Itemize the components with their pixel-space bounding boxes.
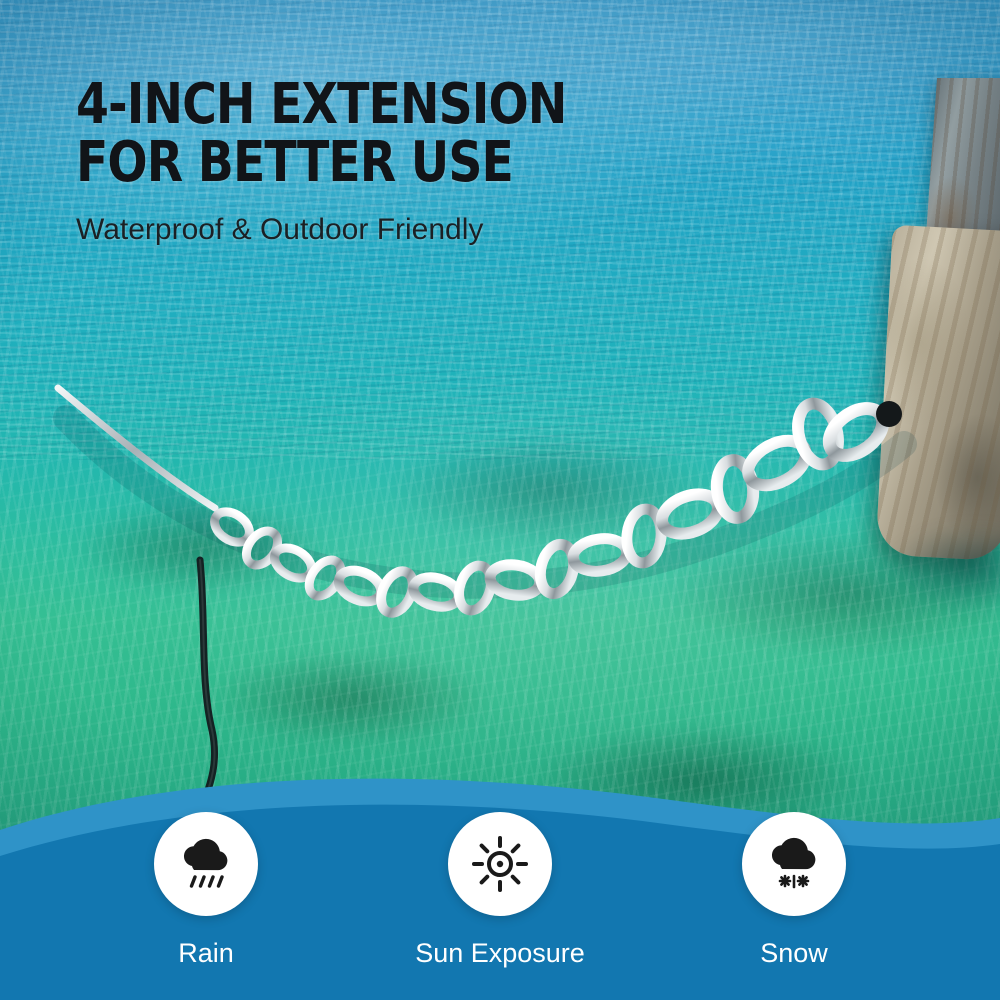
feature-icon-circle [742, 812, 846, 916]
headline-line-2: FOR BETTER USE [76, 134, 678, 192]
sun-icon [468, 832, 532, 896]
feature-icon-circle [448, 812, 552, 916]
headline-block: 4-INCH EXTENSION FOR BETTER USE Waterpro… [76, 76, 716, 247]
feature-sun-exposure: Sun Exposure [415, 812, 585, 969]
rain-cloud-icon [174, 832, 238, 896]
page-title: 4-INCH EXTENSION FOR BETTER USE [76, 76, 678, 191]
feature-rain: Rain [121, 812, 291, 969]
feature-label: Sun Exposure [415, 938, 585, 969]
feature-snow: Snow [709, 812, 879, 969]
snow-cloud-icon [762, 832, 826, 896]
headline-line-1: 4-INCH EXTENSION [76, 72, 566, 137]
headline-subtitle: Waterproof & Outdoor Friendly [76, 213, 716, 247]
feature-icon-circle [154, 812, 258, 916]
feature-label: Rain [178, 938, 234, 969]
feature-label: Snow [760, 938, 828, 969]
feature-row: Rain [0, 790, 1000, 1000]
promo-image: 4-INCH EXTENSION FOR BETTER USE Waterpro… [0, 0, 1000, 1000]
